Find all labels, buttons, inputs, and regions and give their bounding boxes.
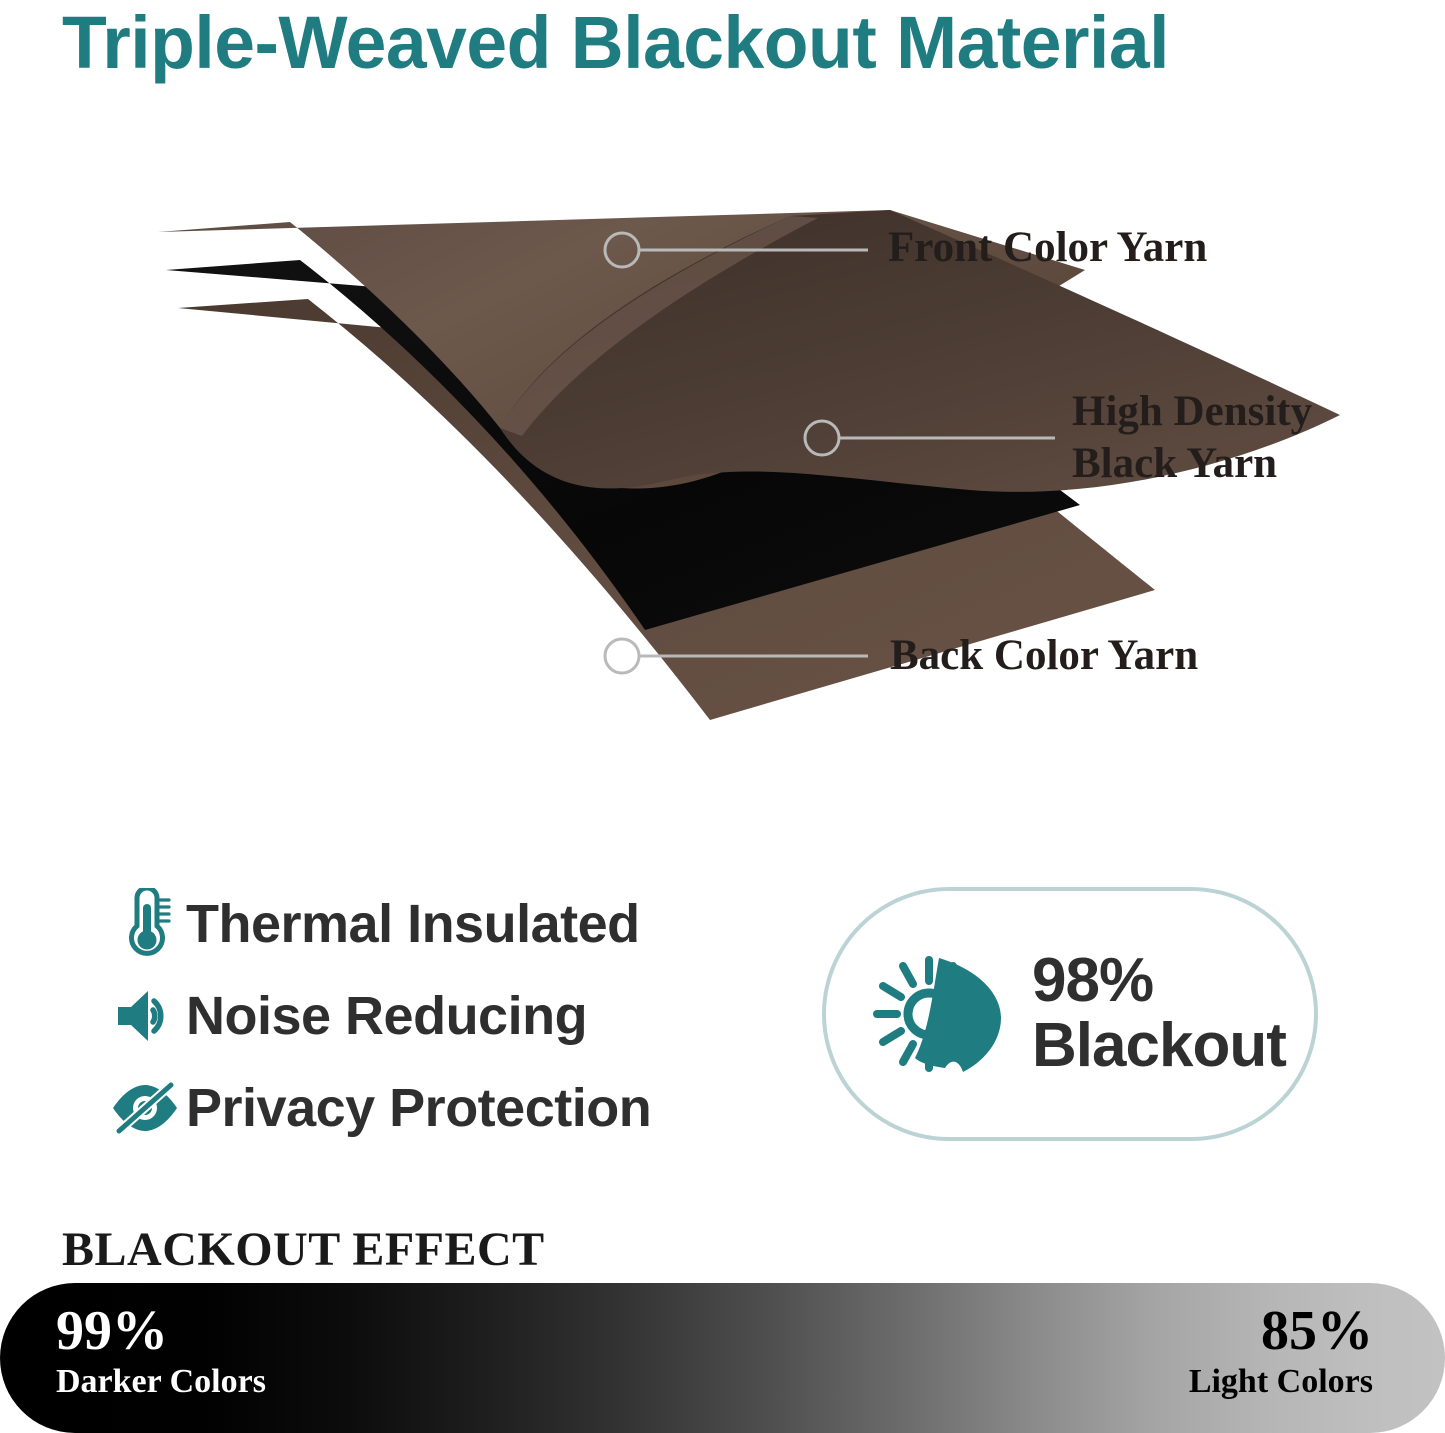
label-high-density-line1: High Density [1072, 388, 1312, 435]
stat-light-percent: 85% [1189, 1300, 1373, 1362]
stat-darker-caption: Darker Colors [56, 1362, 266, 1402]
feature-row-privacy: Privacy Protection [104, 1062, 744, 1154]
stat-light-colors: 85% Light Colors [1189, 1300, 1373, 1402]
blackout-percentage-badge: 98% Blackout [822, 887, 1318, 1141]
thermometer-icon [104, 888, 186, 960]
stat-darker-colors: 99% Darker Colors [56, 1300, 266, 1402]
feature-row-noise: Noise Reducing [104, 970, 744, 1062]
label-high-density-line2: Black Yarn [1072, 440, 1277, 487]
sun-blocked-icon [862, 948, 1012, 1080]
feature-label-privacy: Privacy Protection [186, 1078, 651, 1138]
eye-slash-icon [104, 1081, 186, 1135]
feature-row-thermal: Thermal Insulated [104, 878, 744, 970]
feature-list: Thermal Insulated Noise Reducing Privacy… [104, 878, 744, 1154]
stat-darker-percent: 99% [56, 1300, 266, 1362]
feature-label-thermal: Thermal Insulated [186, 894, 640, 954]
badge-word: Blackout [1032, 1013, 1286, 1079]
speaker-sound-icon [104, 987, 186, 1045]
feature-label-noise: Noise Reducing [186, 986, 587, 1046]
label-front-color-yarn: Front Color Yarn [888, 222, 1207, 274]
blackout-effect-heading: BLACKOUT EFFECT [62, 1222, 545, 1278]
badge-text: 98% Blackout [1032, 949, 1286, 1079]
badge-percent: 98% [1032, 949, 1286, 1013]
stat-light-caption: Light Colors [1189, 1362, 1373, 1402]
label-back-color-yarn: Back Color Yarn [890, 630, 1198, 682]
label-high-density-black-yarn: High Density Black Yarn [1072, 386, 1402, 490]
page-title: Triple-Weaved Blackout Material [62, 2, 1389, 84]
